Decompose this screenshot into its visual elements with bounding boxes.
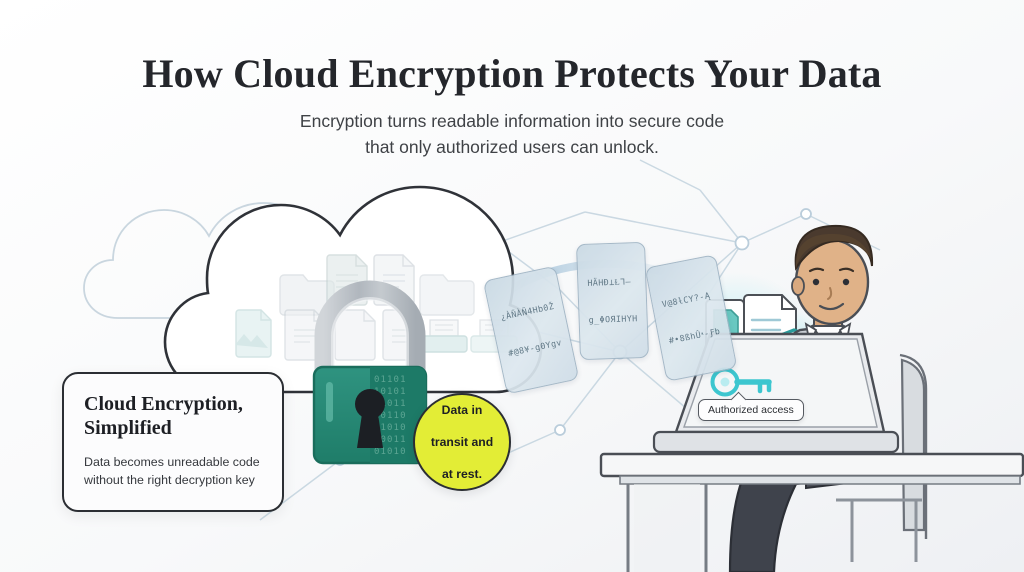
header: How Cloud Encryption Protects Your Data … xyxy=(0,52,1024,161)
subtitle-line-2: that only authorized users can unlock. xyxy=(365,137,659,157)
page-subtitle: Encryption turns readable information in… xyxy=(0,109,1024,161)
cipher-chip-2: HÄHÐ⊥Ɫᒣ— g_ΦOЯIHYH xyxy=(576,242,649,360)
infographic-canvas: 01101 10101 01011 10110 01010 10011 0101… xyxy=(0,0,1024,572)
info-card-heading: Cloud Encryption, Simplified xyxy=(84,392,262,441)
info-card-body: Data becomes unreadable code without the… xyxy=(84,453,262,490)
cipher-chip-3-line-2: #•8ßhÛᵜ-Ƒb xyxy=(668,325,721,347)
page-title: How Cloud Encryption Protects Your Data xyxy=(0,52,1024,95)
cipher-chip-2-line-1: HÄHÐ⊥Ɫᒣ— xyxy=(587,275,636,289)
badge-text: Data in transit and at rest. xyxy=(419,402,505,482)
badge-line-2: transit and xyxy=(425,434,499,450)
info-callout-card: Cloud Encryption, Simplified Data become… xyxy=(62,372,284,512)
cipher-chip-3-line-1: V@8ƚCY?-Ą xyxy=(661,288,714,310)
cipher-chip-2-line-2: g_ΦOЯIHYH xyxy=(588,312,637,326)
info-card-body-line-2: without the right decryption key xyxy=(84,473,255,487)
cipher-chip-1-line-1: ¿ÀÑÀÑ4Hb0Ž xyxy=(499,300,555,323)
info-card-heading-line-2: Simplified xyxy=(84,417,172,439)
badge-line-1: Data in xyxy=(425,402,499,418)
data-state-badge: Data in transit and at rest. xyxy=(413,393,511,491)
badge-line-3: at rest. xyxy=(425,466,499,482)
info-card-body-line-1: Data becomes unreadable code xyxy=(84,455,260,469)
svg-text:01010: 01010 xyxy=(374,447,407,457)
info-card-heading-line-1: Cloud Encryption, xyxy=(84,393,243,415)
authorized-access-tooltip: Authorized access xyxy=(698,399,804,421)
subtitle-line-1: Encryption turns readable information in… xyxy=(300,111,724,131)
svg-text:01101: 01101 xyxy=(374,375,407,385)
cipher-chip-1-line-2: #@8¥-g0Ygv xyxy=(507,336,563,359)
